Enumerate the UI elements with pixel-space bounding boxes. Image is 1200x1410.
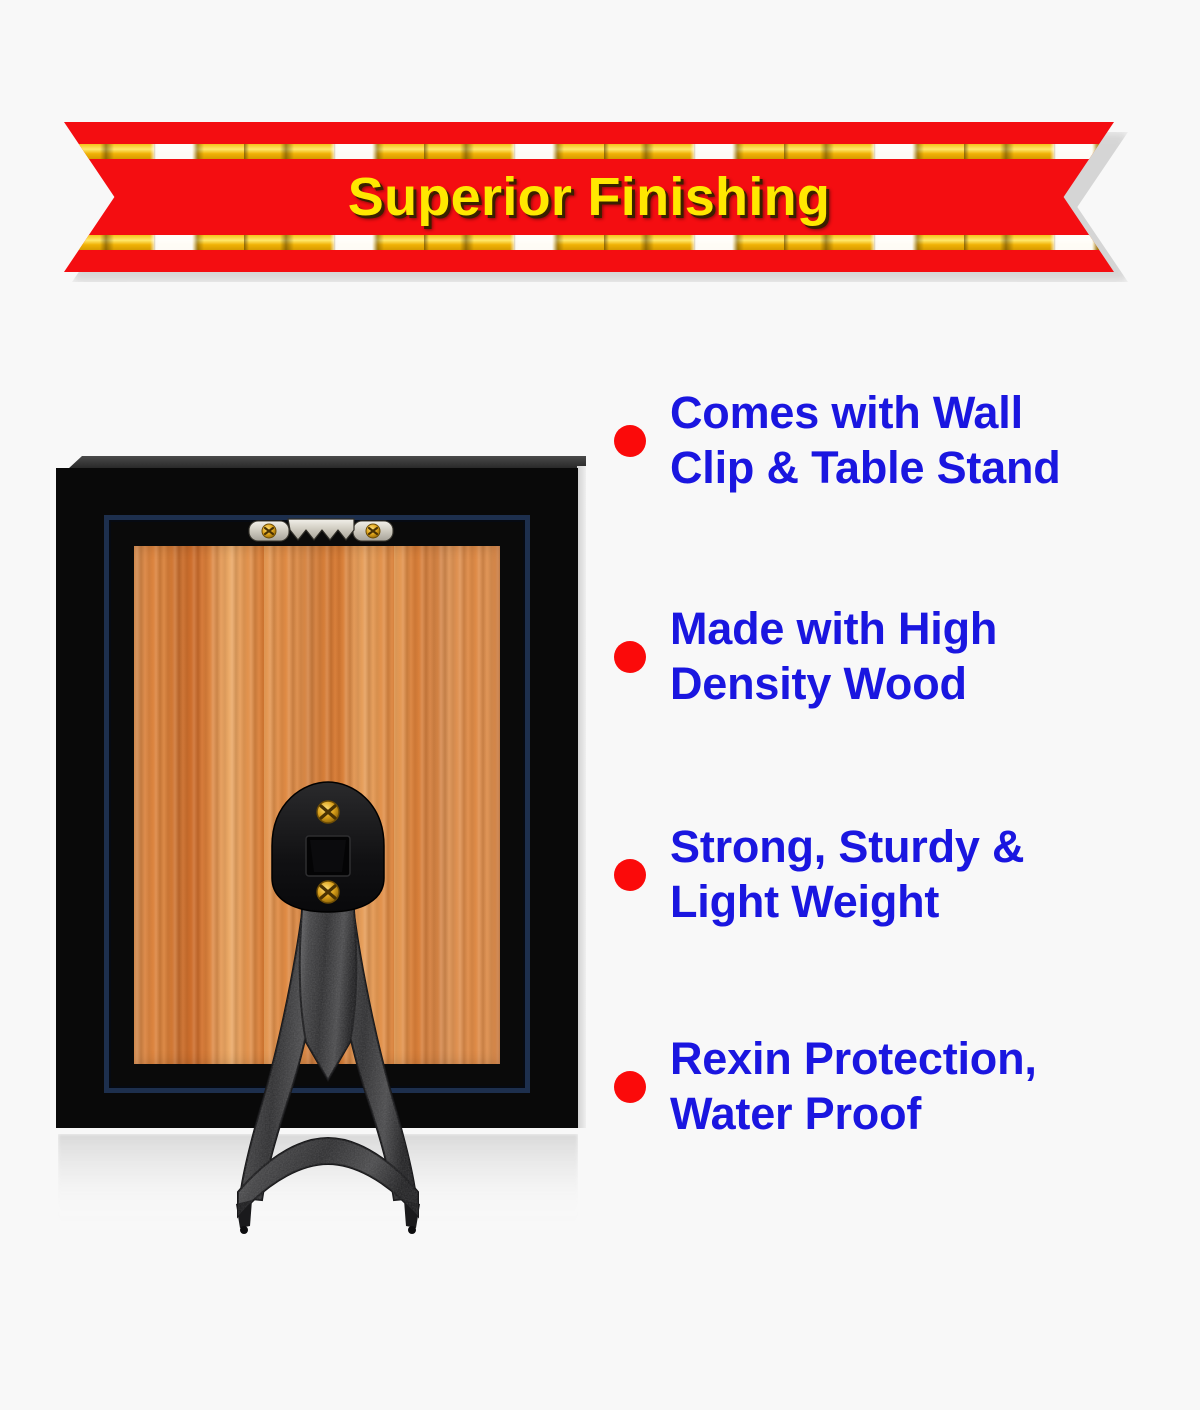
feature-label: Made with High Density Wood — [670, 602, 997, 712]
feature-line-2: Density Wood — [670, 658, 967, 709]
feature-line-1: Comes with Wall — [670, 387, 1023, 438]
plaque-right-bevel — [577, 466, 586, 1128]
infographic-page: Superior Finishing — [0, 0, 1200, 1410]
feature-item: Rexin Protection, Water Proof — [614, 1032, 1184, 1142]
feature-label: Strong, Sturdy & Light Weight — [670, 820, 1024, 930]
feature-line-1: Made with High — [670, 603, 997, 654]
bullet-icon — [614, 859, 646, 891]
table-stand-easel — [232, 780, 424, 1250]
feature-line-2: Clip & Table Stand — [670, 442, 1061, 493]
bullet-icon — [614, 1071, 646, 1103]
bullet-icon — [614, 425, 646, 457]
banner-ribbon: Superior Finishing — [64, 122, 1128, 280]
screw-right — [366, 524, 380, 538]
feature-line-2: Water Proof — [670, 1088, 921, 1139]
feature-label: Comes with Wall Clip & Table Stand — [670, 386, 1061, 496]
memorial-plaque — [56, 456, 586, 1128]
stand-screw-bottom — [317, 881, 339, 903]
stand-screw-top — [317, 801, 339, 823]
feature-item: Comes with Wall Clip & Table Stand — [614, 386, 1184, 496]
feature-item: Made with High Density Wood — [614, 602, 1184, 712]
feature-line-2: Light Weight — [670, 876, 939, 927]
product-photo — [48, 448, 588, 1248]
wall-clip-hanger — [248, 516, 394, 546]
feature-item: Strong, Sturdy & Light Weight — [614, 820, 1184, 930]
feature-line-1: Strong, Sturdy & — [670, 821, 1024, 872]
bullet-icon — [614, 641, 646, 673]
feature-line-1: Rexin Protection, — [670, 1033, 1037, 1084]
feature-list: Comes with Wall Clip & Table Stand Made … — [614, 386, 1184, 1216]
banner-title: Superior Finishing — [64, 122, 1114, 272]
plaque-frame — [56, 468, 578, 1128]
screw-left — [262, 524, 276, 538]
feature-label: Rexin Protection, Water Proof — [670, 1032, 1037, 1142]
